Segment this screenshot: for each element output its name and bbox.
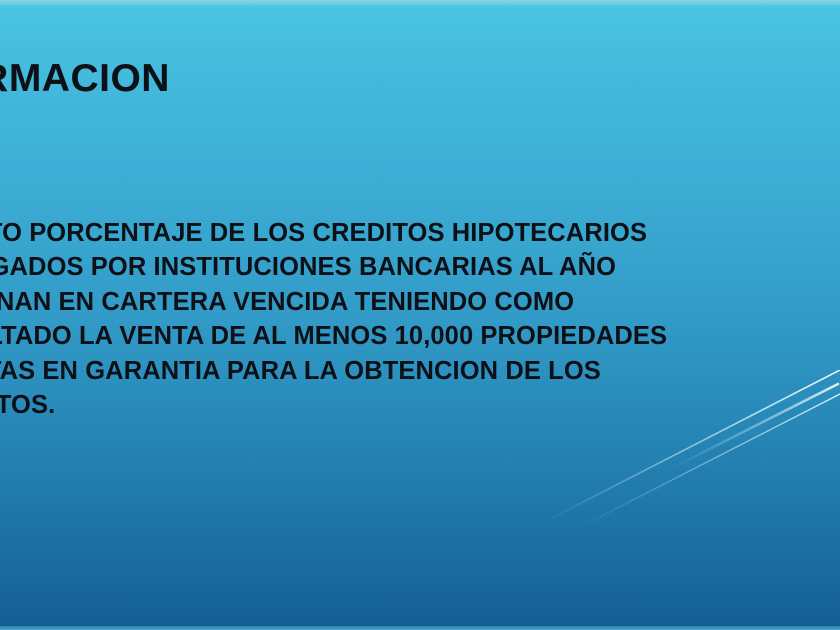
body-line-3: TERMINAN EN CARTERA VENCIDA TENIENDO COM… [0, 285, 816, 319]
body-line-1: EL ALTO PORCENTAJE DE LOS CREDITOS HIPOT… [0, 216, 816, 250]
slide-body-text: EL ALTO PORCENTAJE DE LOS CREDITOS HIPOT… [0, 216, 816, 422]
presentation-slide: INFORMACION EL ALTO PORCENTAJE DE LOS CR… [0, 0, 840, 630]
body-line-2: OTORGADOS POR INSTITUCIONES BANCARIAS AL… [0, 250, 816, 284]
top-accent-band [0, 0, 840, 5]
body-line-6: CREDITOS. [0, 388, 816, 422]
body-line-4: RESULTADO LA VENTA DE AL MENOS 10,000 PR… [0, 319, 816, 353]
body-line-5: PUESTAS EN GARANTIA PARA LA OBTENCION DE… [0, 354, 816, 388]
slide-title: INFORMACION [0, 58, 785, 101]
bottom-accent-band [0, 626, 840, 630]
